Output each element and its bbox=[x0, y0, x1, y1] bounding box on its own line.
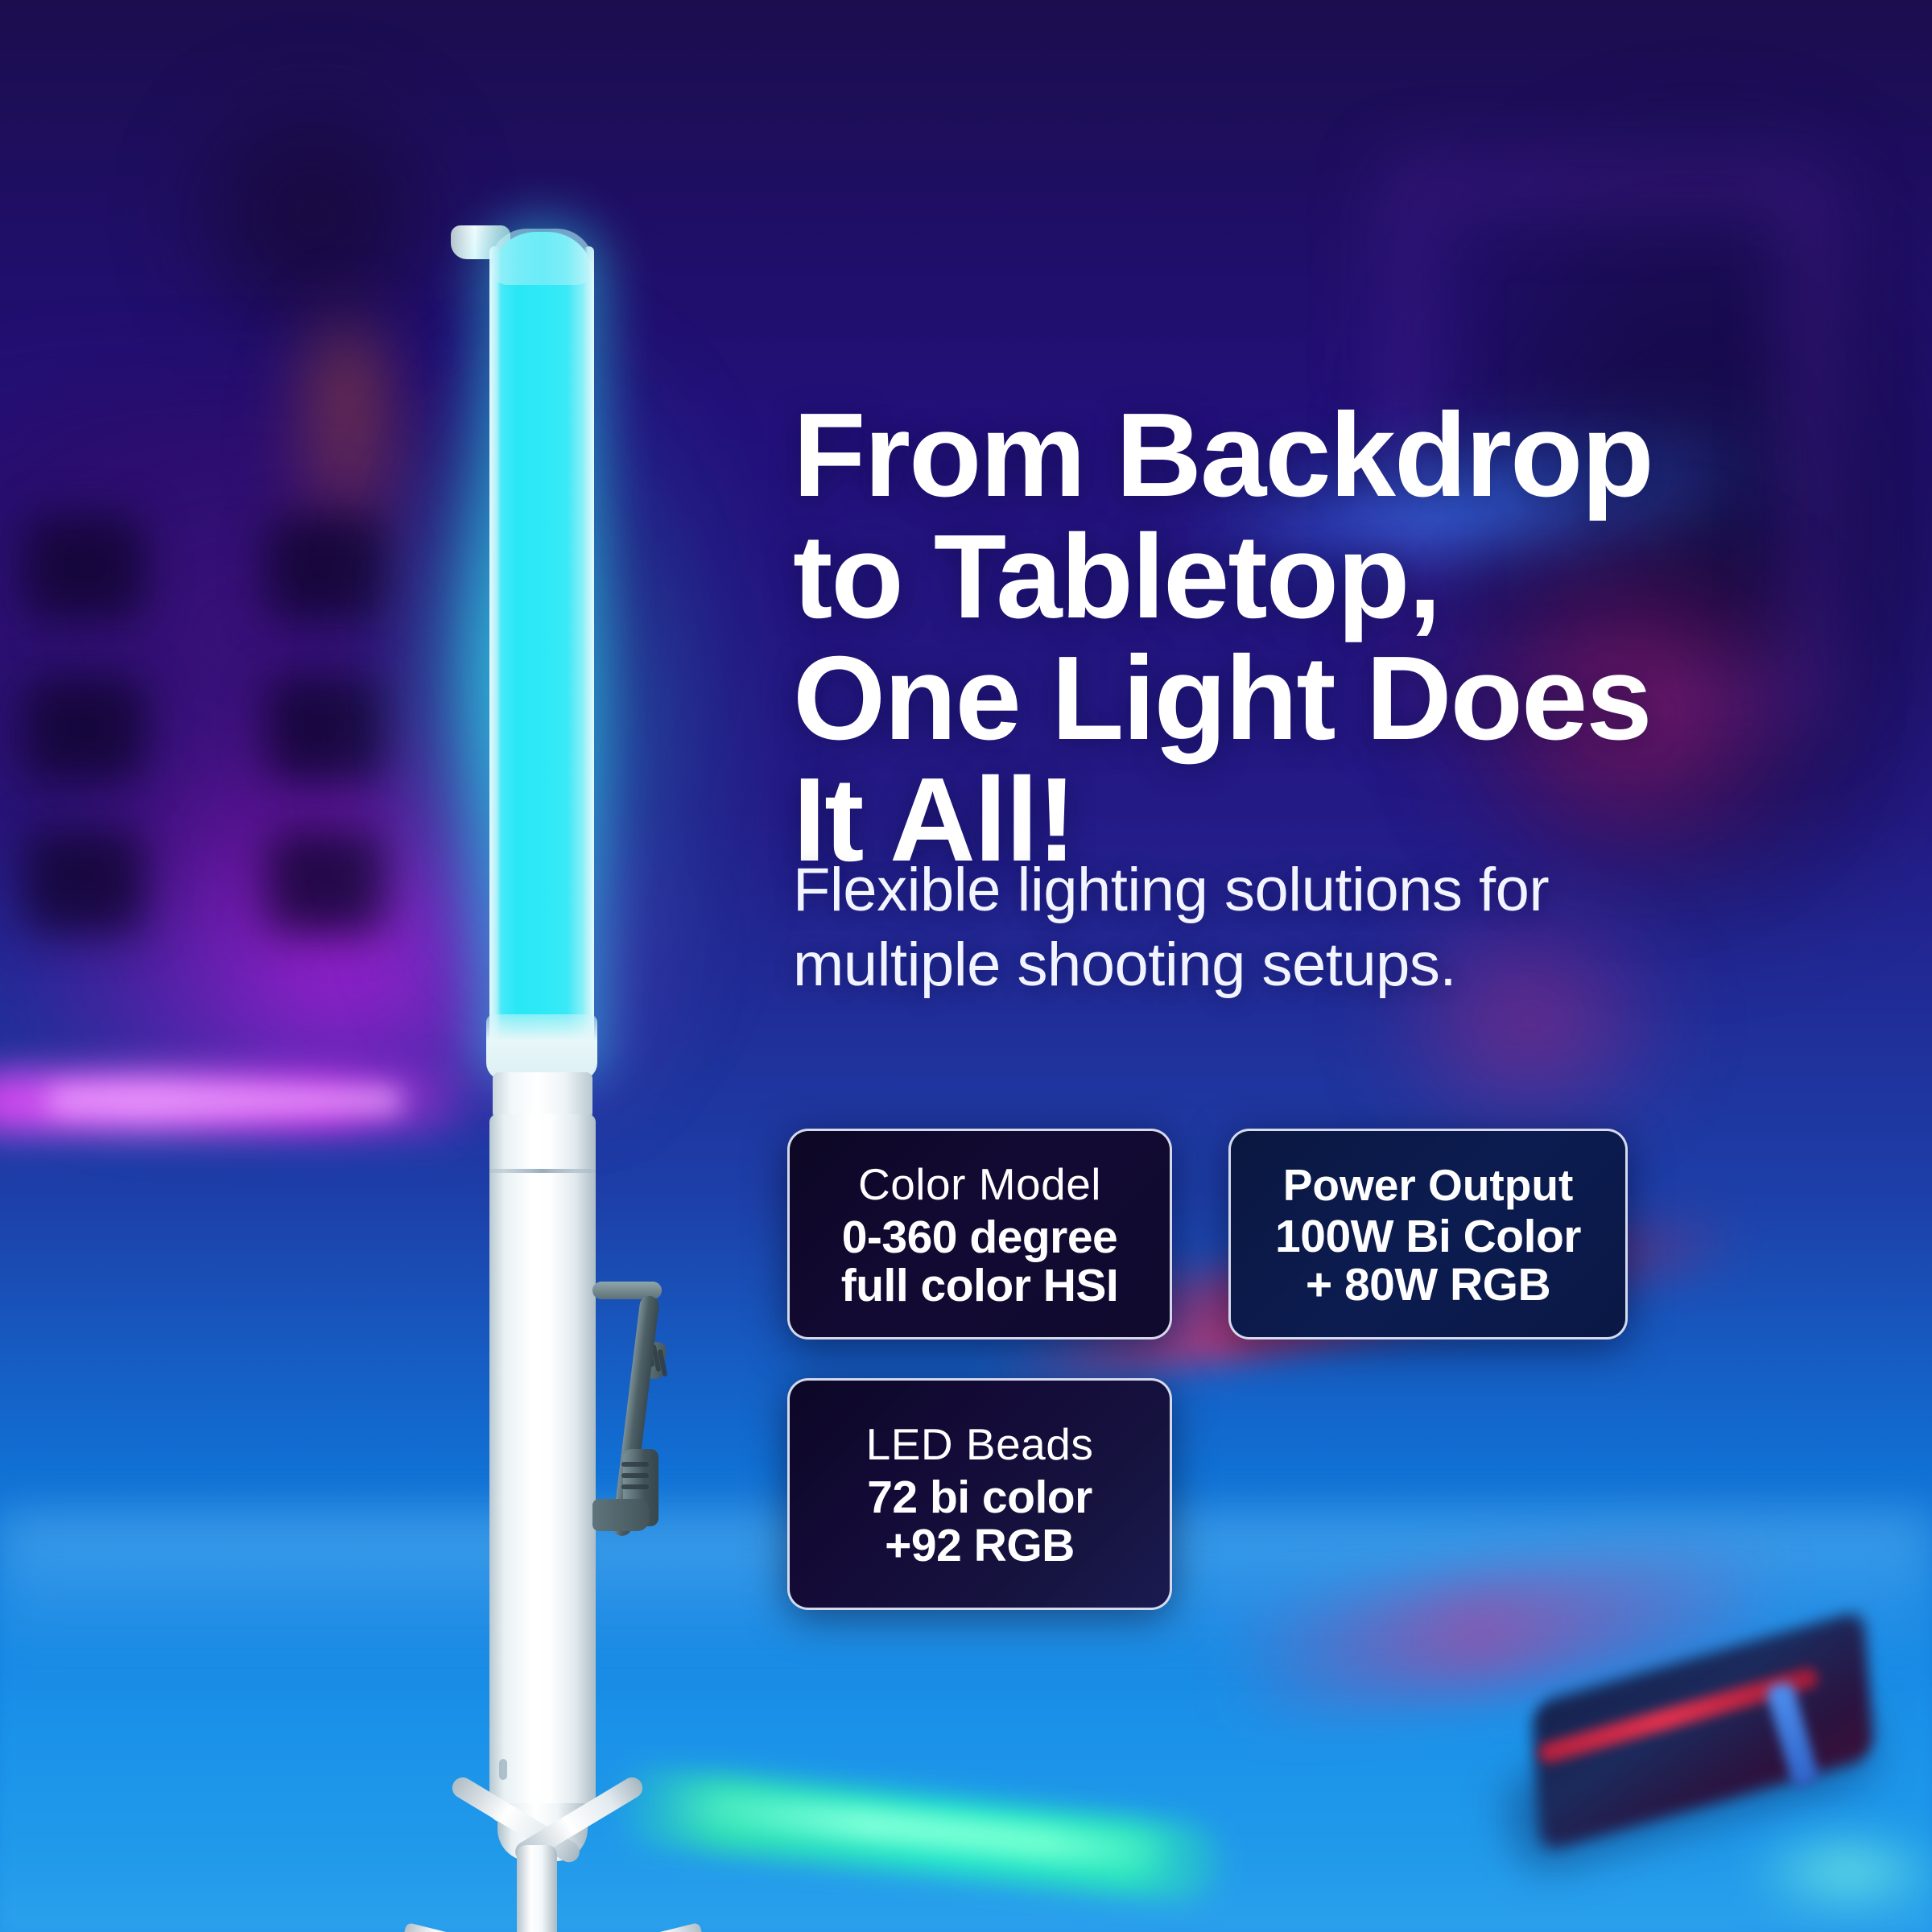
subtitle-line-2: multiple shooting setups. bbox=[793, 928, 1703, 1003]
cable-rib bbox=[621, 1473, 649, 1478]
subtitle-line-1: Flexible lighting solutions for bbox=[793, 853, 1703, 928]
tube-rim-left bbox=[489, 246, 500, 1063]
product-power-button[interactable] bbox=[499, 1759, 507, 1780]
subtitle: Flexible lighting solutions for multiple… bbox=[793, 853, 1703, 1002]
product-body-collar bbox=[493, 1072, 592, 1121]
spec-card-value-line-1: 72 bi color bbox=[867, 1473, 1092, 1521]
spec-card-value-line-2: full color HSI bbox=[841, 1261, 1119, 1310]
product-body-grip bbox=[489, 1114, 596, 1823]
spec-card-color-model: Color Model 0-360 degree full color HSI bbox=[787, 1129, 1172, 1340]
wall-speckle bbox=[24, 829, 145, 934]
wall-speckle bbox=[24, 515, 145, 620]
spec-card-value-line-1: 0-360 degree bbox=[842, 1213, 1118, 1261]
spec-card-title: Color Model bbox=[858, 1158, 1101, 1210]
spec-card-value-line-2: + 80W RGB bbox=[1306, 1261, 1550, 1309]
cable-foot-bracket bbox=[592, 1499, 649, 1531]
wall-speckle bbox=[24, 676, 145, 781]
spec-card-value-line-1: 100W Bi Color bbox=[1275, 1212, 1581, 1261]
cable-rib bbox=[621, 1484, 649, 1489]
spec-card-title: LED Beads bbox=[866, 1418, 1094, 1470]
page-title: From Backdrop to Tabletop, One Light Doe… bbox=[793, 395, 1831, 881]
background-teal-glow bbox=[1715, 1811, 1932, 1932]
tube-top-cap bbox=[489, 229, 594, 285]
headline-line-2: to Tabletop, bbox=[793, 517, 1831, 638]
spec-card-title: Power Output bbox=[1283, 1159, 1574, 1211]
product-led-tube-light bbox=[451, 225, 773, 1803]
promo-canvas: From Backdrop to Tabletop, One Light Doe… bbox=[0, 0, 1932, 1932]
led-tube-diffuser bbox=[489, 232, 594, 1065]
product-body-seam bbox=[489, 1169, 596, 1173]
tripod-leg-front bbox=[517, 1845, 557, 1932]
spec-card-value-line-2: +92 RGB bbox=[885, 1521, 1075, 1570]
spec-card-led-beads: LED Beads 72 bi color +92 RGB bbox=[787, 1378, 1172, 1610]
headline-line-3: One Light Does bbox=[793, 638, 1831, 760]
spec-card-power-output: Power Output 100W Bi Color + 80W RGB bbox=[1228, 1129, 1628, 1340]
tube-rim-right bbox=[584, 246, 594, 1063]
headline-line-1: From Backdrop bbox=[793, 395, 1831, 517]
cable-rib bbox=[621, 1462, 649, 1467]
tube-bottom-lip bbox=[486, 1014, 597, 1080]
